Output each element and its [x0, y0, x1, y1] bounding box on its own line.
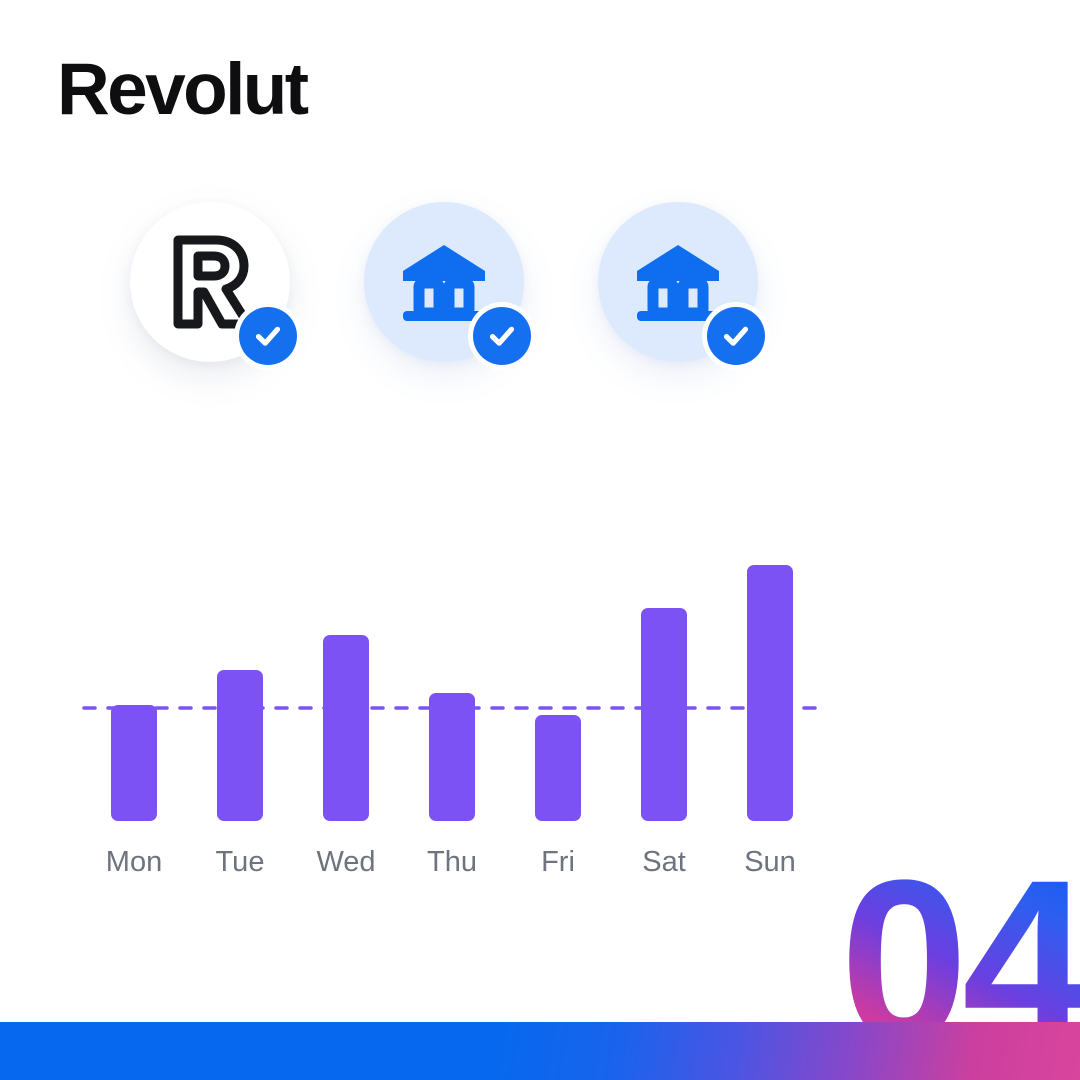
chart-category-labels: MonTueWedThuFriSatSun [106, 846, 796, 878]
chart-bar [429, 693, 475, 821]
chart-bar [747, 565, 793, 821]
chart-category-label: Thu [427, 846, 477, 878]
chart-category-label: Sun [744, 846, 796, 878]
chart-bar [641, 608, 687, 821]
chart-bar [217, 670, 263, 821]
chart-category-label: Wed [316, 846, 375, 878]
chart-category-label: Sat [642, 846, 686, 878]
chart-bar [111, 705, 157, 821]
footer-gradient-bar [0, 1022, 1080, 1080]
chart-bar [535, 715, 581, 821]
chart-category-label: Fri [541, 846, 575, 878]
chart-bars [111, 565, 793, 821]
chart-bar [323, 635, 369, 821]
chart-category-label: Tue [216, 846, 265, 878]
slide-canvas: Revolut [0, 0, 1080, 1080]
chart-category-label: Mon [106, 846, 162, 878]
